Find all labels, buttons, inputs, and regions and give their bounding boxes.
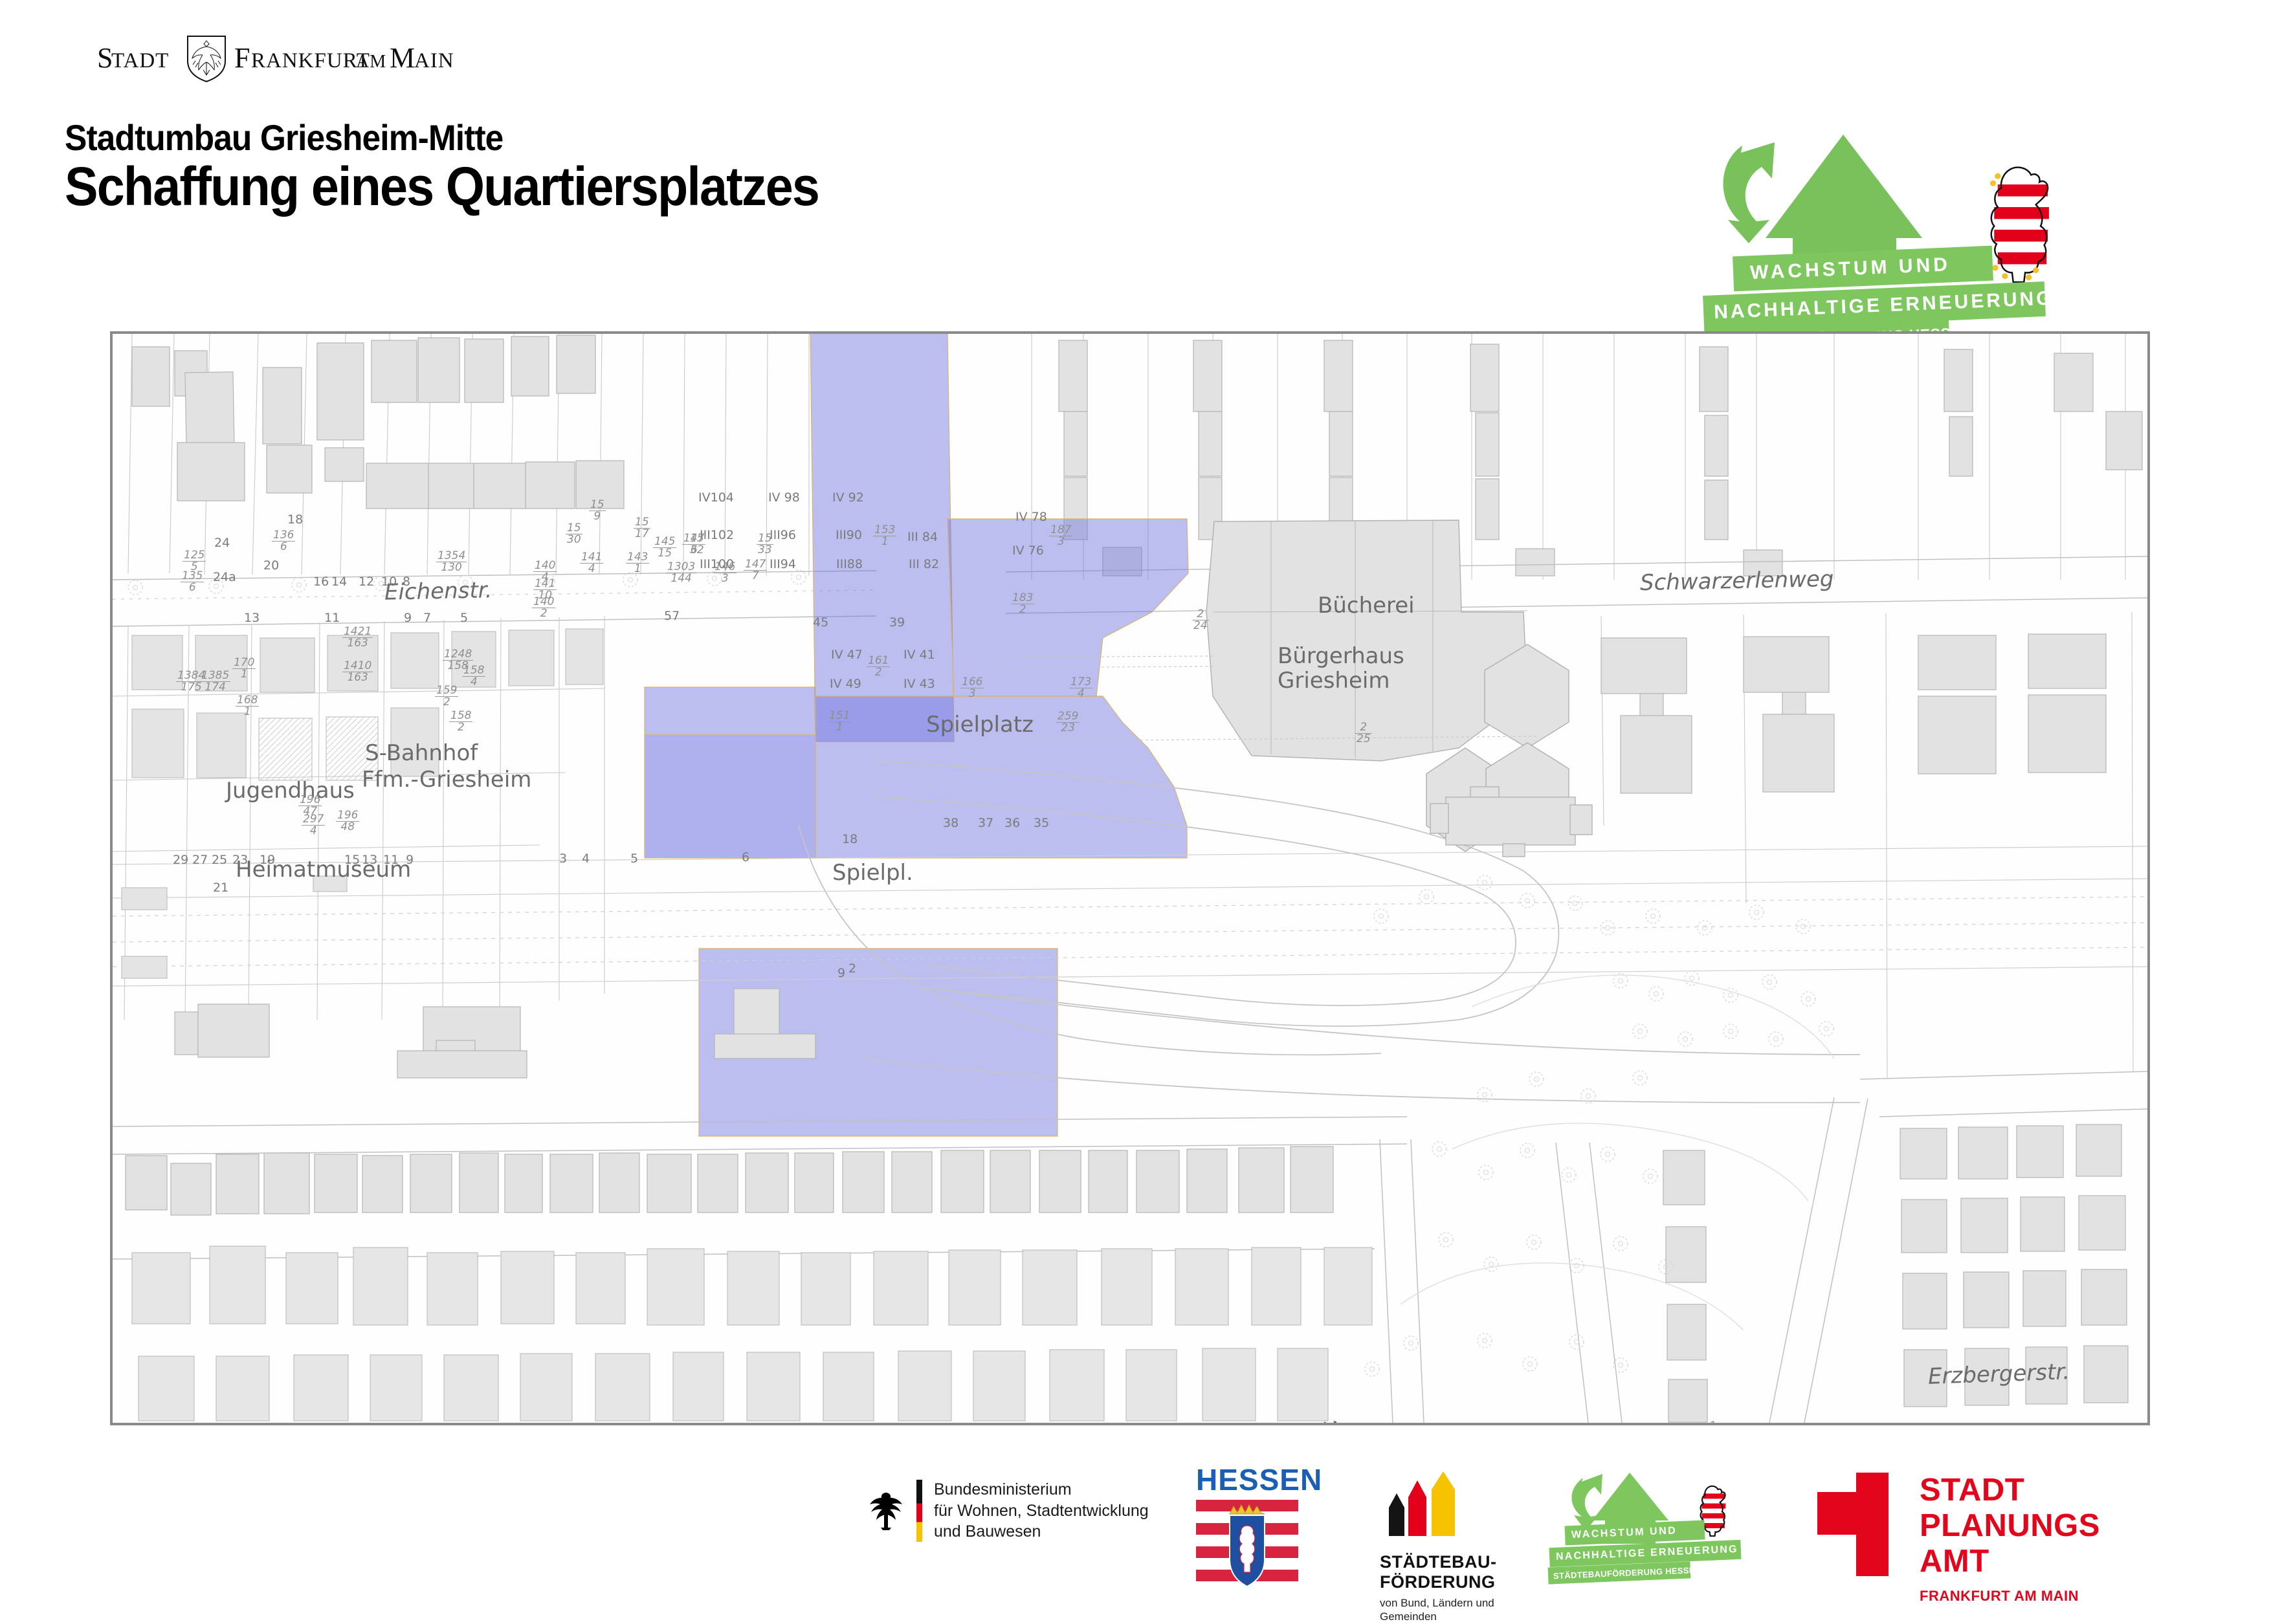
parcel-number: 1584	[462, 665, 485, 688]
house-number: 7	[423, 611, 431, 625]
bundesministerium-logo: Bundesministerium für Wohnen, Stadtentwi…	[867, 1479, 1149, 1542]
parcel-number: 1832	[1011, 593, 1034, 616]
parcel-number: 1303144	[666, 562, 696, 585]
house-number: 25	[212, 853, 227, 867]
poi-griesheim: Griesheim	[1278, 668, 1390, 694]
house-number: 9	[406, 853, 414, 867]
parcel-number: 1410163	[342, 661, 373, 684]
house-number: 21	[213, 881, 228, 895]
parcel-number: 159	[589, 499, 606, 523]
house-number: 15	[344, 853, 360, 867]
house-number: 4	[582, 851, 590, 866]
parcel-number: 17	[1708, 1421, 1718, 1425]
house-number: 11	[383, 853, 399, 867]
project-subtitle: Stadtumbau Griesheim-Mitte	[65, 116, 503, 159]
poi-s-bahnhof: S-Bahnhof	[365, 740, 478, 766]
sbf-sub1: von Bund, Ländern und	[1380, 1596, 1497, 1610]
poi-spielplatz: Spielplatz	[926, 712, 1034, 738]
poi-buecherei: Bücherei	[1318, 593, 1415, 619]
house-number: 29	[173, 853, 188, 867]
house-number: 13	[362, 853, 377, 867]
parcel-number: 225	[1355, 722, 1372, 745]
parcel-number: 1582	[449, 710, 472, 734]
house-number: IV 78	[1015, 510, 1047, 524]
parcel-number: 1356	[181, 571, 204, 594]
poi-jugendhaus: Jugendhaus	[226, 778, 355, 804]
bm-line1: Bundesministerium	[934, 1479, 1149, 1500]
staedtebaufoerderung-logo: STÄDTEBAU- FÖRDERUNG von Bund, Ländern u…	[1380, 1471, 1497, 1624]
house-number: IV 98	[768, 490, 800, 505]
house-number: III90	[836, 528, 862, 542]
map-vector-layer	[113, 334, 2147, 1423]
programme-logo-footer: WACHSTUM UND NACHHALTIGE ERNEUERUNG STÄD…	[1565, 1467, 1817, 1584]
sbf-sub2: Gemeinden	[1380, 1610, 1497, 1623]
house-number: 14	[331, 575, 347, 589]
street-label-schwarzerlenweg: Schwarzerlenweg	[1640, 566, 1834, 596]
house-number: IV 76	[1012, 543, 1044, 558]
house-number: IV104	[698, 490, 734, 505]
hessen-logo: HESSEN	[1196, 1465, 1313, 1595]
house-number: 9	[404, 611, 412, 625]
house-number: 9	[837, 966, 845, 980]
house-number: 10	[381, 575, 397, 589]
hessen-coat-of-arms	[1196, 1500, 1298, 1592]
hessen-label: HESSEN	[1196, 1465, 1313, 1495]
house-number: IV 43	[903, 677, 935, 691]
house-number: 23	[232, 853, 248, 867]
parcel-number: 1734	[1069, 677, 1092, 700]
house-number: 45	[813, 615, 828, 630]
poi-ffm-griesheim: Ffm.-Griesheim	[362, 767, 531, 793]
house-number: 5	[630, 851, 638, 866]
house-number: 27	[192, 853, 208, 867]
house-number: 38	[943, 816, 958, 830]
sbf-line1: STÄDTEBAU-	[1380, 1552, 1497, 1572]
house-number: 35	[1034, 816, 1049, 830]
house-number: 39	[889, 615, 905, 630]
house-number: 19	[260, 853, 275, 867]
house-number: III96	[770, 528, 796, 542]
house-number: 5	[460, 611, 468, 625]
svg-text:RANKFURT: RANKFURT	[251, 49, 370, 72]
bm-line3: und Bauwesen	[934, 1521, 1149, 1542]
poi-spielpl: Spielpl.	[832, 860, 913, 886]
house-number: 3	[559, 851, 567, 866]
parcel-number: 1612	[867, 655, 890, 679]
parcel-number: 1873	[1049, 525, 1072, 548]
spa-line2: PLANUNGS	[1920, 1508, 2100, 1544]
house-number: 18	[287, 512, 303, 527]
house-number: 11	[324, 611, 340, 625]
house-number: 6	[742, 850, 749, 864]
parcel-number: 14515	[653, 536, 676, 560]
house-number: IV 41	[903, 648, 935, 662]
parcel-number: 1701	[232, 657, 256, 681]
street-label-obere-ruetzelstr: Obere Rützelstr.	[1316, 1418, 1342, 1425]
spa-sub: FRANKFURT AM MAIN	[1920, 1588, 2100, 1605]
svg-text:TADT: TADT	[111, 49, 169, 72]
house-number: 8	[403, 575, 410, 589]
parcel-number: 1533	[757, 533, 773, 556]
parcel-number: 1477	[744, 559, 767, 582]
house-number: IV 92	[832, 490, 864, 505]
parcel-number: 1366	[272, 530, 295, 553]
parcel-number: 1354130	[436, 551, 467, 574]
house-number: IV 49	[830, 677, 861, 691]
house-number: III 84	[907, 530, 938, 544]
parcel-number: 1463	[713, 562, 737, 585]
german-flag-bar	[916, 1480, 922, 1542]
recycle-arrow-icon	[1723, 142, 1775, 243]
hessen-lion-icon	[1990, 168, 2049, 282]
parcel-number: 1402	[532, 597, 555, 620]
house-number: 12	[359, 575, 374, 589]
house-number: 2	[848, 961, 856, 976]
house-number: 24	[214, 536, 230, 550]
parcel-number: 1530	[566, 523, 582, 546]
parcel-number: 1681	[236, 695, 259, 718]
house-number: IV 47	[831, 648, 863, 662]
parcel-number: 2974	[302, 814, 325, 837]
spa-mark-icon	[1817, 1473, 1895, 1576]
street-label-am-gemeindegarten-2: Am Gemeindegarten	[1536, 1425, 1562, 1425]
spa-line1: STADT	[1920, 1473, 2100, 1508]
parcel-number: 1431	[626, 552, 649, 575]
bm-line2: für Wohnen, Stadtentwicklung	[934, 1500, 1149, 1522]
footer-logo-bar: Bundesministerium für Wohnen, Stadtentwi…	[0, 1456, 2271, 1598]
house-number: 13	[244, 611, 260, 625]
house-number: 57	[664, 609, 680, 623]
poi-buergerhaus: Bürgerhaus	[1278, 643, 1404, 669]
sbf-line2: FÖRDERUNG	[1380, 1572, 1497, 1592]
map-canvas	[113, 334, 2147, 1423]
house-number: 36	[1004, 816, 1020, 830]
parcel-number: 1385174	[200, 670, 230, 694]
svg-text:AM: AM	[356, 52, 386, 72]
spa-line3: AMT	[1920, 1544, 2100, 1579]
parcel-number: 1421163	[342, 626, 373, 650]
parcel-number: 1511	[828, 710, 851, 734]
bundesadler-icon	[867, 1490, 905, 1531]
cadastral-map[interactable]: Eichenstr. Schwarzerlenweg Erzbergerstr.…	[110, 331, 2150, 1425]
house-number: III 82	[909, 557, 939, 571]
house-number: 18	[842, 832, 858, 846]
parcel-number: 1531	[873, 525, 896, 548]
street-label-erzbergerstr: Erzbergerstr.	[1927, 1359, 2070, 1390]
street-label-eichenstr: Eichenstr.	[384, 577, 493, 605]
svg-text:F: F	[234, 42, 250, 74]
svg-text:AIN: AIN	[414, 49, 454, 72]
parcel-number: 19648	[336, 810, 359, 833]
parcel-number: 1517	[634, 517, 650, 540]
house-number: 37	[978, 816, 993, 830]
house-number: 16	[313, 575, 329, 589]
parcel-number: 224	[1192, 609, 1209, 632]
parcel-number: 1532	[689, 533, 705, 556]
svg-text:M: M	[390, 42, 415, 74]
house-number: III88	[836, 557, 863, 571]
staedtebau-houses-icon	[1380, 1471, 1477, 1541]
stadtplanungsamt-logo: STADT PLANUNGS AMT FRANKFURT AM MAIN	[1817, 1473, 2100, 1604]
house-number: 20	[263, 558, 279, 573]
house-number: III94	[770, 557, 796, 571]
parcel-number: 1414	[580, 552, 603, 575]
parcel-number: 1663	[960, 677, 984, 700]
parcel-number: 25923	[1056, 711, 1080, 734]
house-number: 24a	[213, 570, 236, 584]
city-of-frankfurt-logo: S TADT F RANKFURT AM M AIN	[97, 31, 511, 83]
parcel-number: 1592	[435, 685, 458, 708]
page-title: Schaffung eines Quartiersplatzes	[65, 155, 819, 218]
